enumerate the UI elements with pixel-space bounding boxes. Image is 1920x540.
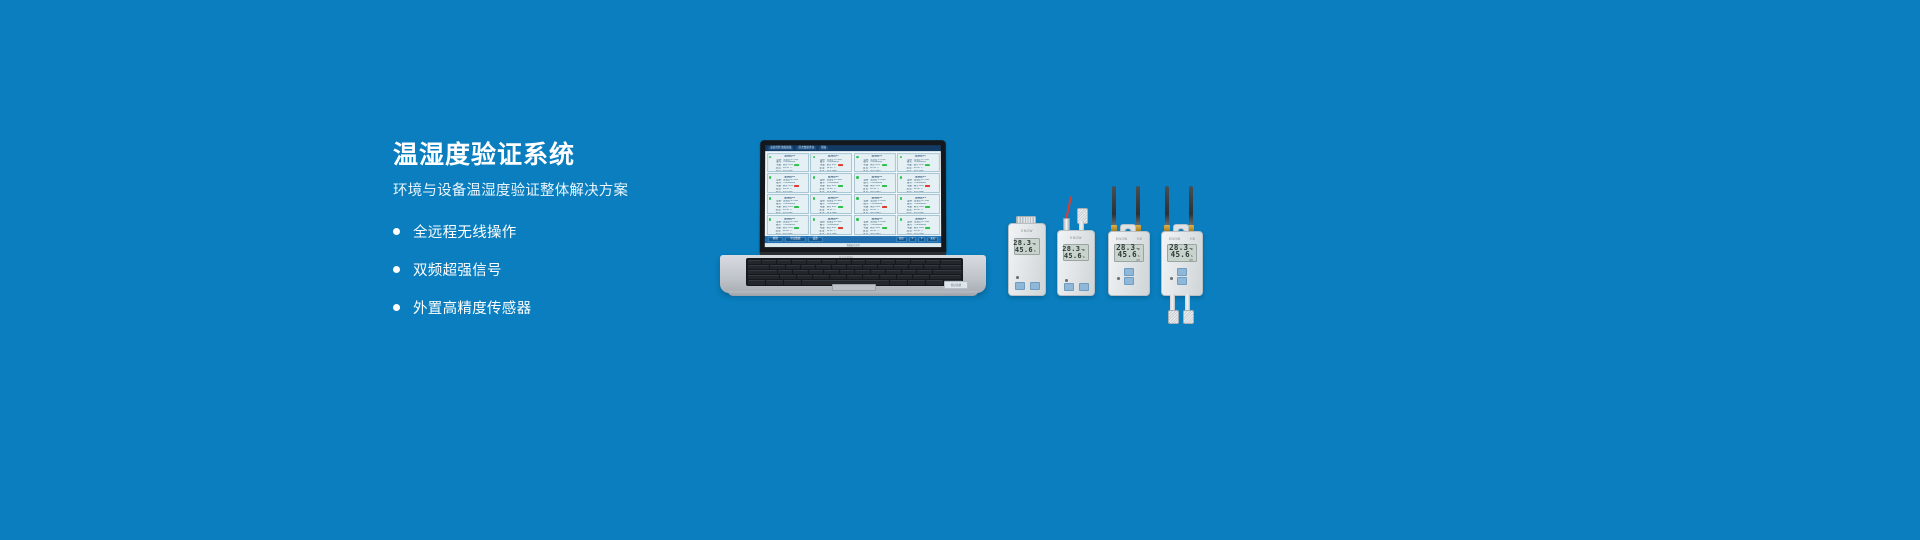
humidity-unit: % [1191, 255, 1193, 258]
key[interactable] [762, 260, 776, 264]
monitor-card-value: 45.6 %RH [783, 170, 793, 172]
monitor-card[interactable]: 监测点01设备:温湿度 DT-01A编号:TC2009002电量:剩余 85%温… [897, 153, 939, 172]
key[interactable] [748, 260, 762, 264]
monitor-card[interactable]: 监测点01设备:温湿度 DT-01A编号:TC2009002电量:剩余 85%温… [854, 194, 896, 213]
monitor-card-title: 监测点01 [861, 218, 893, 221]
monitor-card[interactable]: 监测点01设备:温湿度 DT-01A编号:TC2009002电量:剩余 85%温… [897, 194, 939, 213]
laptop-lid: 设备管理 数据采集 历史数据查询 帮助 监测点01设备:温湿度 DT-01A编号… [760, 140, 947, 253]
key[interactable] [748, 265, 770, 269]
monitor-card-key: 湿 度: [817, 170, 825, 172]
monitor-card-row: 湿 度:45.6 %RH [904, 233, 936, 235]
key[interactable] [807, 260, 821, 264]
monitor-card[interactable]: 监测点01设备:温湿度 DT-01A编号:TC2009002电量:剩余 85%温… [810, 194, 852, 213]
monitor-card-key: 湿 度: [817, 191, 825, 193]
key[interactable] [847, 275, 863, 279]
humidity-reading: 45.6% [1018, 247, 1036, 254]
feature-label: 全远程无线操作 [413, 221, 517, 242]
monitor-card[interactable]: 监测点01设备:温湿度 DT-01A编号:TC2009002电量:剩余 85%温… [766, 215, 808, 234]
status-text: 系统运行正常 [846, 243, 859, 247]
settings-button[interactable]: 设置 [807, 237, 822, 243]
humidity-unit: % [1034, 250, 1036, 253]
key[interactable] [801, 265, 815, 269]
monitor-card[interactable]: 监测点01设备:温湿度 DT-01A编号:TC2009002电量:剩余 85%温… [897, 173, 939, 192]
key[interactable] [863, 275, 879, 279]
device-lcd-display: 28.3℃ 45.6% RH [1114, 244, 1144, 262]
monitor-card-key: 湿 度: [817, 212, 825, 214]
monitor-card-key: 湿 度: [773, 212, 781, 214]
monitor-card-title: 监测点01 [817, 218, 849, 221]
key[interactable] [822, 260, 836, 264]
device-button-down[interactable] [1177, 277, 1187, 285]
device-button-down[interactable] [1079, 283, 1089, 291]
status-led-icon [813, 156, 815, 158]
key[interactable] [924, 265, 938, 269]
key[interactable] [896, 260, 910, 264]
monitor-card-value: 45.6 %RH [870, 212, 880, 214]
battery-badge [925, 206, 930, 208]
pagination-last[interactable]: 末页 [927, 237, 938, 243]
device-button-up[interactable] [1064, 283, 1074, 291]
monitor-card-value: 45.6 %RH [827, 170, 837, 172]
device-body: ENOW H8 28.3℃ 45.6% RH [1108, 231, 1150, 296]
key[interactable] [940, 265, 962, 269]
device-brand-label: ENOW [1009, 229, 1045, 233]
device-button-row [1109, 268, 1149, 276]
feature-list: 全远程无线操作 双频超强信号 外置高精度传感器 [393, 221, 723, 318]
key[interactable] [941, 260, 962, 264]
battery-badge [794, 185, 799, 187]
key[interactable] [897, 275, 913, 279]
menu-item-device[interactable]: 设备管理 数据采集 [768, 146, 793, 149]
status-led-icon [900, 156, 902, 158]
key[interactable] [748, 275, 779, 279]
antenna-left-icon [1112, 186, 1116, 226]
monitor-card-row: 湿 度:45.6 %RH [861, 212, 893, 214]
monitor-card-value: 45.6 %RH [827, 233, 837, 235]
refresh-button[interactable]: 刷新 [768, 237, 783, 243]
hero-banner: 温湿度验证系统 环境与设备温湿度验证整体解决方案 全远程无线操作 双频超强信号 … [0, 0, 1920, 540]
device-brand-row: ENOW H8 [1109, 237, 1149, 241]
laptop-front-edge [728, 291, 978, 296]
monitor-card[interactable]: 监测点01设备:温湿度 DT-01A编号:TC2009002电量:剩余 85%温… [897, 215, 939, 234]
key[interactable] [766, 280, 783, 284]
key[interactable] [878, 265, 892, 269]
monitor-card-value: 45.6 %RH [827, 191, 837, 193]
humidity-reading: 45.6% [1118, 251, 1140, 259]
app-toolbar: 刷新 导出数据 设置 首页 1 2 末页 [765, 236, 941, 243]
key[interactable] [930, 275, 961, 279]
key[interactable] [855, 270, 870, 274]
monitor-card-title: 监测点01 [774, 176, 806, 179]
status-led-icon [856, 218, 858, 220]
monitor-card-title: 监测点01 [904, 176, 936, 179]
keyboard-row [748, 260, 962, 264]
device-logger-wireless-2: ENOW H8 28.3℃ 45.6% RH [1158, 186, 1204, 322]
humidity-reading: 45.6% [1171, 251, 1193, 259]
monitor-card-row: 湿 度:45.6 %RH [774, 170, 806, 172]
device-logger-basic: ENOW 28.3℃ 45.6% [1008, 216, 1044, 294]
key[interactable] [890, 280, 907, 284]
key[interactable] [793, 270, 808, 274]
key[interactable] [792, 260, 806, 264]
antenna-left-icon [1165, 186, 1169, 226]
key[interactable] [894, 265, 908, 269]
device-lcd-display: 28.3℃ 45.6% [1014, 238, 1040, 255]
key[interactable] [902, 270, 917, 274]
monitor-card-key: 湿 度: [861, 191, 869, 193]
status-led-icon [813, 176, 815, 178]
hero-copy: 温湿度验证系统 环境与设备温湿度验证整体解决方案 全远程无线操作 双频超强信号 … [393, 140, 723, 335]
battery-badge [794, 206, 799, 208]
key[interactable] [933, 270, 962, 274]
status-led-icon [813, 197, 815, 199]
device-button-down[interactable] [1124, 277, 1134, 285]
page-subtitle: 环境与设备温湿度验证整体解决方案 [393, 182, 723, 201]
app-statusbar: 系统运行正常 [765, 243, 941, 247]
monitor-card-value: 45.6 %RH [914, 191, 924, 193]
humidity-unit: % [1138, 255, 1140, 258]
status-led-icon [900, 197, 902, 199]
monitor-card-key: 湿 度: [904, 212, 912, 214]
key[interactable] [926, 260, 940, 264]
monitor-card-value: 45.6 %RH [783, 212, 793, 214]
humidity-unit: % [1083, 256, 1085, 259]
trackpad[interactable] [832, 284, 876, 291]
monitor-card-value: 45.6 %RH [870, 170, 880, 172]
monitor-card[interactable]: 监测点01设备:温湿度 DT-01A编号:TC2009002电量:剩余 85%温… [810, 173, 852, 192]
monitor-card-title: 监测点01 [773, 218, 805, 221]
page-title: 温湿度验证系统 [393, 140, 723, 170]
key[interactable] [837, 260, 851, 264]
battery-badge [925, 164, 930, 166]
monitor-card-row: 湿 度:45.6 %RH [904, 191, 936, 193]
key[interactable] [824, 270, 839, 274]
battery-badge [794, 227, 799, 229]
monitor-card-key: 湿 度: [904, 233, 912, 235]
monitor-card-row: 湿 度:45.6 %RH [861, 191, 893, 193]
key[interactable] [926, 280, 943, 284]
monitor-card-row: 湿 度:45.6 %RH [861, 233, 893, 235]
device-brand-row: ENOW H8 [1162, 237, 1202, 241]
pagination-page-1[interactable]: 1 [909, 237, 916, 243]
status-led-icon [769, 156, 771, 158]
key[interactable] [813, 275, 829, 279]
monitor-card-row: 湿 度:45.6 %RH [904, 170, 936, 172]
device-button-row [1109, 277, 1149, 285]
device-brand-label: ENOW [1169, 237, 1181, 241]
monitor-card-key: 湿 度: [774, 191, 782, 193]
key[interactable] [911, 260, 925, 264]
monitor-card-title: 监测点01 [773, 197, 805, 200]
key[interactable] [778, 270, 793, 274]
key[interactable] [777, 260, 791, 264]
status-led-icon [856, 176, 858, 178]
laptop-illustration: 设备管理 数据采集 历史数据查询 帮助 监测点01设备:温湿度 DT-01A编号… [720, 140, 986, 300]
status-led-icon [769, 176, 771, 178]
device-body: ENOW H8 28.3℃ 45.6% RH [1161, 231, 1203, 296]
laptop-base: HUAWEI 验证系统 [720, 255, 986, 293]
device-lcd-display: 28.3℃ 45.6% [1063, 244, 1089, 261]
key[interactable] [786, 265, 800, 269]
monitor-card-row: 湿 度:45.6 %RH [817, 170, 849, 172]
device-brand-label: ENOW [1058, 236, 1094, 240]
monitor-card-key: 湿 度: [861, 212, 869, 214]
monitor-card-title: 监测点01 [904, 197, 936, 200]
keyboard-row [748, 275, 962, 279]
key[interactable] [863, 265, 877, 269]
key[interactable] [832, 265, 846, 269]
key[interactable] [886, 270, 901, 274]
key[interactable] [748, 280, 765, 284]
monitor-card-key: 湿 度: [904, 170, 912, 172]
device-button-down[interactable] [1030, 282, 1040, 290]
monitor-card[interactable]: 监测点01设备:温湿度 DT-01A编号:TC2009002电量:剩余 85%温… [854, 153, 896, 172]
key[interactable] [840, 270, 855, 274]
monitor-card-key: 湿 度: [773, 233, 781, 235]
monitor-card-value: 45.6 %RH [914, 212, 924, 214]
monitor-card[interactable]: 监测点01设备:温湿度 DT-01A编号:TC2009002电量:剩余 85%温… [767, 173, 809, 192]
bullet-dot-icon [393, 228, 400, 235]
list-item: 外置高精度传感器 [393, 297, 723, 318]
monitor-card-title: 监测点01 [817, 197, 849, 200]
humidity-reading: 45.6% [1067, 253, 1085, 260]
key[interactable] [809, 270, 824, 274]
monitor-card-value: 45.6 %RH [870, 233, 880, 235]
probe-sensor-head [1183, 310, 1194, 324]
monitor-card-row: 湿 度:45.6 %RH [861, 170, 893, 172]
key[interactable] [909, 265, 923, 269]
monitor-card-title: 监测点01 [904, 218, 936, 221]
monitor-card[interactable]: 监测点01设备:温湿度 DT-01A编号:TC2009002电量:剩余 85%温… [766, 194, 808, 213]
status-led-icon [900, 218, 902, 220]
monitor-card-row: 湿 度:45.6 %RH [774, 191, 806, 193]
key[interactable] [770, 265, 784, 269]
monitor-card-row: 湿 度:45.6 %RH [817, 191, 849, 193]
list-item: 双频超强信号 [393, 259, 723, 280]
device-button-row [1162, 277, 1202, 285]
status-led-icon [769, 197, 771, 199]
key[interactable] [908, 280, 925, 284]
key[interactable] [880, 275, 896, 279]
status-led-icon [769, 218, 771, 220]
monitor-card-key: 湿 度: [774, 170, 782, 172]
bullet-dot-icon [393, 304, 400, 311]
monitor-card-key: 湿 度: [904, 191, 912, 193]
monitor-card-title: 监测点01 [861, 155, 893, 158]
keyboard-row [748, 270, 962, 274]
device-brand-label: ENOW [1116, 237, 1128, 241]
probe-cable [1065, 196, 1072, 220]
battery-badge [882, 185, 887, 187]
key[interactable] [780, 275, 796, 279]
pagination-first[interactable]: 首页 [896, 237, 907, 243]
monitor-card[interactable]: 监测点01设备:温湿度 DT-01A编号:TC2009002电量:剩余 85%温… [854, 173, 896, 192]
device-logger-probe: ENOW 28.3℃ 45.6% [1055, 196, 1095, 294]
monitor-card-key: 湿 度: [861, 233, 869, 235]
monitor-card-value: 45.6 %RH [914, 170, 924, 172]
key[interactable] [797, 275, 813, 279]
keyboard-row [748, 265, 962, 269]
battery-badge [882, 206, 887, 208]
status-led-icon [900, 176, 902, 178]
monitor-card-grid: 监测点01设备:温湿度 DT-01A编号:TC2009002电量:剩余 85%温… [765, 151, 941, 236]
keyboard[interactable] [746, 258, 963, 286]
monitor-card[interactable]: 监测点01设备:温湿度 DT-01A编号:TC2009002电量:剩余 85%温… [810, 215, 852, 234]
battery-badge [925, 227, 930, 229]
device-lcd-display: 28.3℃ 45.6% RH [1167, 244, 1197, 262]
status-led-icon [856, 197, 858, 199]
monitor-card-row: 湿 度:45.6 %RH [773, 212, 805, 214]
key[interactable] [881, 260, 895, 264]
monitor-card-key: 湿 度: [861, 170, 869, 172]
key[interactable] [784, 280, 801, 284]
device-body: ENOW 28.3℃ 45.6% [1008, 223, 1046, 296]
monitor-card-value: 45.6 %RH [827, 212, 837, 214]
monitor-card-title: 监测点01 [861, 176, 893, 179]
device-button-up[interactable] [1124, 268, 1134, 276]
monitor-card-row: 湿 度:45.6 %RH [773, 233, 805, 235]
monitor-card-value: 45.6 %RH [870, 191, 880, 193]
battery-badge [838, 164, 843, 166]
pagination-page-2[interactable]: 2 [918, 237, 925, 243]
battery-badge [838, 206, 843, 208]
menu-item-history[interactable]: 历史数据查询 [797, 146, 817, 149]
key[interactable] [847, 265, 861, 269]
bullet-dot-icon [393, 266, 400, 273]
monitor-card-title: 监测点01 [904, 155, 936, 158]
antenna-right-icon [1189, 186, 1193, 226]
device-model-label: H8 [1137, 237, 1142, 241]
device-button-row [1162, 268, 1202, 276]
status-led-icon [1065, 279, 1068, 282]
monitor-card-row: 湿 度:45.6 %RH [904, 212, 936, 214]
list-item: 全远程无线操作 [393, 221, 723, 242]
feature-label: 双频超强信号 [413, 259, 502, 280]
lcd-mini-label: RH [1118, 260, 1140, 262]
monitor-card-value: 45.6 %RH [783, 233, 793, 235]
probe-sensor-head [1168, 310, 1179, 324]
feature-label: 外置高精度传感器 [413, 297, 531, 318]
key[interactable] [913, 275, 929, 279]
monitor-card[interactable]: 监测点01设备:温湿度 DT-01A编号:TC2009002电量:剩余 85%温… [810, 153, 852, 172]
status-led-icon [813, 218, 815, 220]
device-logger-wireless-1: ENOW H8 28.3℃ 45.6% RH [1105, 186, 1151, 294]
monitor-card-key: 湿 度: [817, 233, 825, 235]
battery-badge [794, 164, 799, 166]
monitor-card[interactable]: 监测点01设备:温湿度 DT-01A编号:TC2009002电量:剩余 85%温… [854, 215, 896, 234]
battery-badge [882, 164, 887, 166]
device-button-row [1058, 283, 1094, 291]
key[interactable] [871, 270, 886, 274]
key[interactable] [830, 275, 846, 279]
monitor-card-title: 监测点01 [774, 155, 806, 158]
key[interactable] [917, 270, 932, 274]
monitor-card[interactable]: 监测点01设备:温湿度 DT-01A编号:TC2009002电量:剩余 85%温… [767, 153, 809, 172]
lcd-mini-label: RH [1171, 260, 1193, 262]
laptop-screen: 设备管理 数据采集 历史数据查询 帮助 监测点01设备:温湿度 DT-01A编号… [765, 145, 941, 247]
battery-badge [838, 185, 843, 187]
battery-badge [925, 185, 930, 187]
device-button-up[interactable] [1177, 268, 1187, 276]
monitor-card-row: 湿 度:45.6 %RH [817, 212, 849, 214]
key[interactable] [852, 260, 866, 264]
battery-badge [882, 227, 887, 229]
device-body: ENOW 28.3℃ 45.6% [1057, 230, 1095, 296]
monitor-card-title: 监测点01 [861, 197, 893, 200]
monitor-card-title: 监测点01 [817, 155, 849, 158]
antenna-right-icon [1136, 186, 1140, 226]
key[interactable] [866, 260, 880, 264]
menu-item-help[interactable]: 帮助 [819, 146, 828, 149]
key[interactable] [748, 270, 777, 274]
status-led-icon [856, 156, 858, 158]
export-button[interactable]: 导出数据 [785, 237, 805, 243]
sticker-label: 验证系统 [951, 283, 961, 287]
device-button-row [1009, 282, 1045, 290]
status-led-icon [1016, 276, 1019, 279]
monitor-card-value: 45.6 %RH [914, 233, 924, 235]
monitor-card-value: 45.6 %RH [783, 191, 793, 193]
monitor-card-row: 湿 度:45.6 %RH [817, 233, 849, 235]
device-model-label: H8 [1190, 237, 1195, 241]
device-button-up[interactable] [1015, 282, 1025, 290]
monitor-card-title: 监测点01 [817, 176, 849, 179]
laptop-sticker: 验证系统 [944, 281, 968, 289]
battery-badge [838, 227, 843, 229]
key[interactable] [816, 265, 830, 269]
